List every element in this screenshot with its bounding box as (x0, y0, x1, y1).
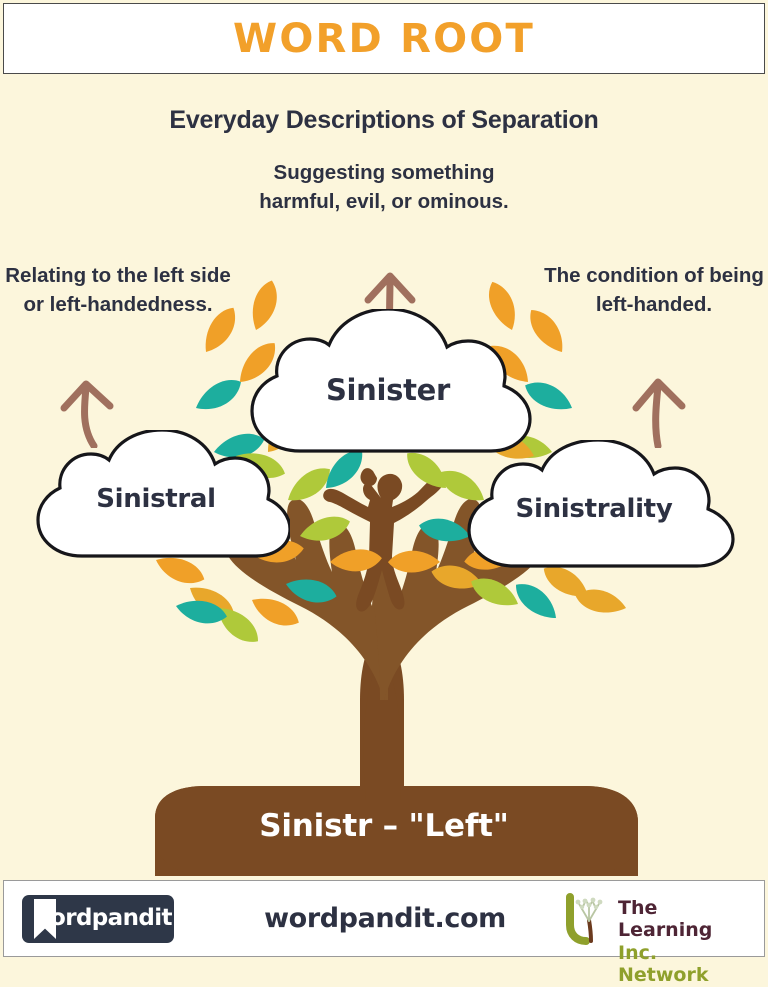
word-label-sinister: Sinister (232, 373, 544, 407)
footer-banner: ordpandit wordpandit.com (3, 880, 765, 957)
root-label: Sinistr – "Left" (0, 808, 768, 844)
word-bubble-sinistral[interactable]: Sinistral (22, 430, 290, 564)
tree-in-u-logo-icon (560, 893, 612, 945)
learning-inc-network-logo[interactable]: The Learning Inc. Network (560, 893, 746, 945)
partner-line-1: The Learning (618, 897, 746, 942)
word-bubble-sinistrality[interactable]: Sinistrality (452, 440, 736, 574)
infographic-page: WORD ROOT Everyday Descriptions of Separ… (0, 0, 768, 960)
learning-inc-network-text: The Learning Inc. Network (618, 897, 746, 987)
word-label-sinistral: Sinistral (22, 484, 290, 514)
partner-line-2: Inc. Network (618, 942, 746, 987)
word-label-sinistrality: Sinistrality (452, 494, 736, 524)
